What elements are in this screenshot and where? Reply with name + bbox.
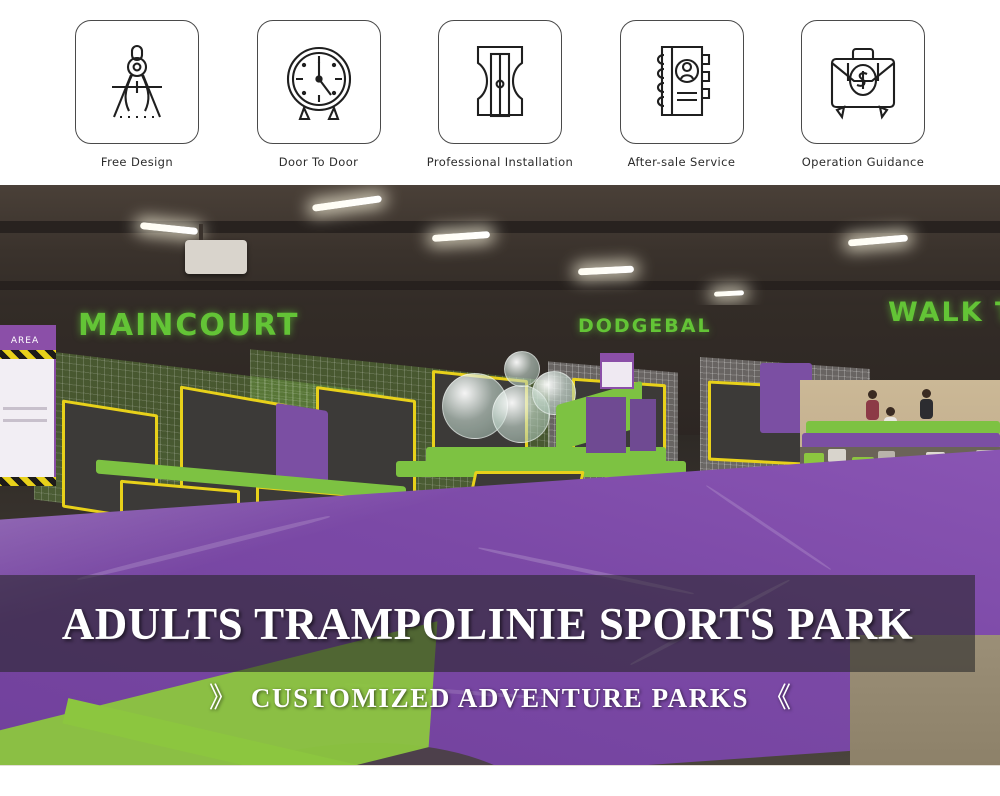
feature-label: Professional Installation xyxy=(427,155,573,169)
feature-icon-box xyxy=(620,20,744,144)
address-book-icon xyxy=(644,39,720,125)
chevron-right-icon: 《 xyxy=(763,684,791,712)
footer-divider xyxy=(0,765,1000,766)
footer-strip xyxy=(0,765,1000,796)
wall-notice-sign xyxy=(600,353,634,389)
briefcase-dollar-icon xyxy=(822,39,904,125)
feature-icon-box xyxy=(438,20,562,144)
area-info-sign: AREA xyxy=(0,325,56,480)
banner-title: ADULTS TRAMPOLINIE SPORTS PARK xyxy=(62,598,914,650)
feature-label: After-sale Service xyxy=(628,155,736,169)
zorb-ball xyxy=(504,351,540,387)
pencil-sharpener-icon xyxy=(464,39,536,125)
feature-icon-box xyxy=(801,20,925,144)
feature-label: Operation Guidance xyxy=(802,155,925,169)
promo-banner-page: Free Design Door To xyxy=(0,0,1000,796)
feature-item-free-design[interactable]: Free Design xyxy=(52,20,222,169)
hazard-stripe xyxy=(0,350,56,359)
neon-sign-maincourt: MAINCOURT xyxy=(78,308,299,343)
chevron-left-icon: 》 xyxy=(209,684,237,712)
feature-label: Free Design xyxy=(101,155,173,169)
feature-item-professional-installation[interactable]: Professional Installation xyxy=(415,20,585,169)
alarm-clock-icon xyxy=(277,39,361,125)
wall-panel xyxy=(586,397,626,453)
feature-icon-box xyxy=(75,20,199,144)
photo-scene: MAINCOURT DODGEBAL WALK T xyxy=(0,185,1000,765)
banner-subtitle: CUSTOMIZED ADVENTURE PARKS xyxy=(251,683,749,714)
neon-sign-dodgeball: DODGEBAL xyxy=(578,315,712,337)
compass-icon xyxy=(98,39,176,125)
wall-panel xyxy=(630,399,656,451)
feature-item-operation-guidance[interactable]: Operation Guidance xyxy=(778,20,948,169)
subtitle-row: 》 CUSTOMIZED ADVENTURE PARKS 《 xyxy=(0,672,1000,724)
feature-label: Door To Door xyxy=(279,155,359,169)
trampoline-park-photo: MAINCOURT DODGEBAL WALK T xyxy=(0,185,1000,765)
person-child xyxy=(920,389,933,419)
feature-icon-box xyxy=(257,20,381,144)
person-child xyxy=(866,390,879,420)
feature-item-after-sale-service[interactable]: After-sale Service xyxy=(597,20,767,169)
title-overlay-band: ADULTS TRAMPOLINIE SPORTS PARK xyxy=(0,575,975,672)
feature-item-door-to-door[interactable]: Door To Door xyxy=(234,20,404,169)
neon-sign-walk: WALK T xyxy=(888,297,1000,328)
feature-strip: Free Design Door To xyxy=(0,0,1000,185)
ceiling-projector xyxy=(185,240,247,274)
ceiling-beam xyxy=(0,281,1000,290)
hazard-stripe xyxy=(0,477,56,486)
